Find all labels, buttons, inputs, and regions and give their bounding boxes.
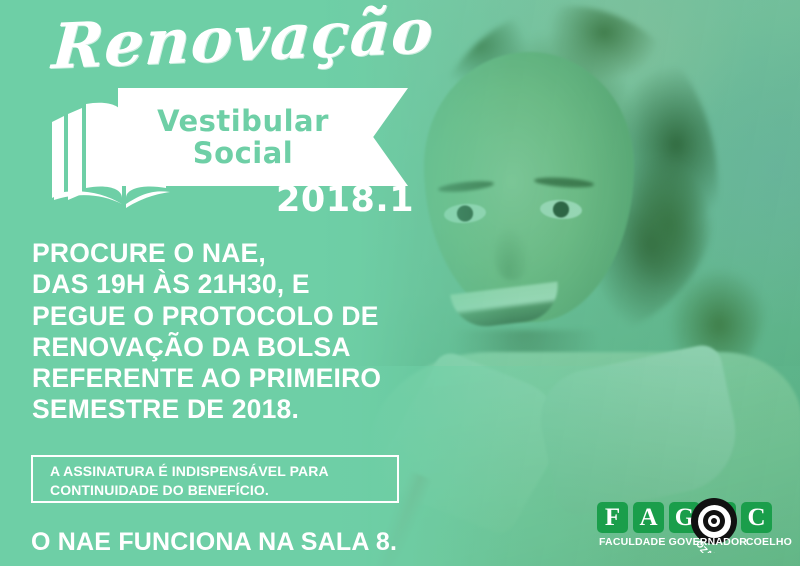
ribbon-banner-text: Vestibular Social <box>118 88 368 186</box>
logo-letter-c: C <box>741 502 772 533</box>
notice-text: A ASSINATURA É INDISPENSÁVEL PARA CONTIN… <box>50 462 395 500</box>
body-copy-line: SEMESTRE DE 2018. <box>32 394 432 425</box>
ribbon-line-2: Social <box>193 138 293 168</box>
fagoc-logo: F A G C FACULDADE GOVERNADOR OZANAM <box>597 502 793 556</box>
notice-line: CONTINUIDADE DO BENEFÍCIO. <box>50 481 395 500</box>
edition-year: 2018.1 <box>276 183 414 218</box>
logo-letter-f: F <box>597 502 628 533</box>
body-copy-line: RENOVAÇÃO DA BOLSA <box>32 332 432 363</box>
logo-subtitle-right: COELHO <box>746 536 792 548</box>
logo-letter-a: A <box>633 502 664 533</box>
body-copy-line: PEGUE O PROTOCOLO DE <box>32 301 432 332</box>
svg-text:OZANAM: OZANAM <box>694 539 737 553</box>
body-copy-line: PROCURE O NAE, <box>32 238 432 269</box>
body-copy: PROCURE O NAE, DAS 19H ÀS 21H30, E PEGUE… <box>32 238 432 426</box>
body-copy-line: DAS 19H ÀS 21H30, E <box>32 269 432 300</box>
footer-note: O NAE FUNCIONA NA SALA 8. <box>31 528 397 557</box>
poster-content: Renovação Vestibular Social 2018.1 PROCU… <box>0 0 800 566</box>
body-copy-line: REFERENTE AO PRIMEIRO <box>32 363 432 394</box>
logo-letter-squares: F A G C <box>597 502 772 533</box>
page-title: Renovação <box>50 0 435 78</box>
logo-subtitle: FACULDADE GOVERNADOR OZANAM COELHO <box>597 535 793 551</box>
notice-line: A ASSINATURA É INDISPENSÁVEL PARA <box>50 462 395 481</box>
poster-canvas: Renovação Vestibular Social 2018.1 PROCU… <box>0 0 800 566</box>
ribbon-line-1: Vestibular <box>157 106 329 136</box>
